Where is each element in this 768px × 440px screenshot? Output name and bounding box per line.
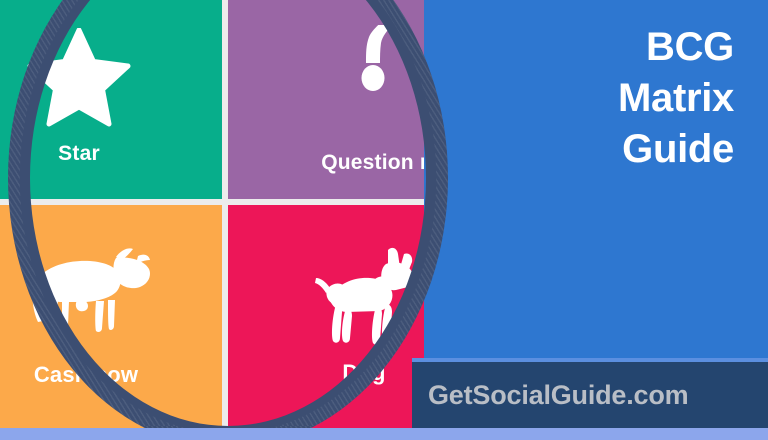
dog-icon [312, 246, 416, 350]
bcg-matrix: Star Question m [0, 0, 424, 428]
quadrant-cash-cow[interactable]: Cash cow [0, 205, 228, 428]
title-line-1: BCG [424, 22, 734, 73]
watermark-text: GetSocialGuide.com [428, 380, 688, 411]
page-title: BCG Matrix Guide [424, 22, 734, 176]
watermark-bar: GetSocialGuide.com [412, 362, 768, 428]
quadrant-label-star: Star [58, 142, 100, 166]
quadrant-question-mark[interactable]: Question m [228, 0, 424, 205]
quadrant-dog[interactable]: Dog [228, 205, 424, 428]
quadrant-star[interactable]: Star [0, 0, 228, 205]
quadrant-label-question-mark: Question m [321, 151, 424, 175]
cow-icon [20, 244, 152, 336]
quadrant-label-cash-cow: Cash cow [34, 362, 138, 388]
quadrant-label-dog: Dog [342, 360, 385, 386]
title-line-2: Matrix [424, 73, 734, 124]
bottom-accent-strip [0, 428, 768, 440]
title-line-3: Guide [424, 124, 734, 175]
star-icon [27, 28, 131, 128]
poster-canvas: Star Question m [0, 0, 768, 440]
question-mark-icon [348, 25, 412, 125]
